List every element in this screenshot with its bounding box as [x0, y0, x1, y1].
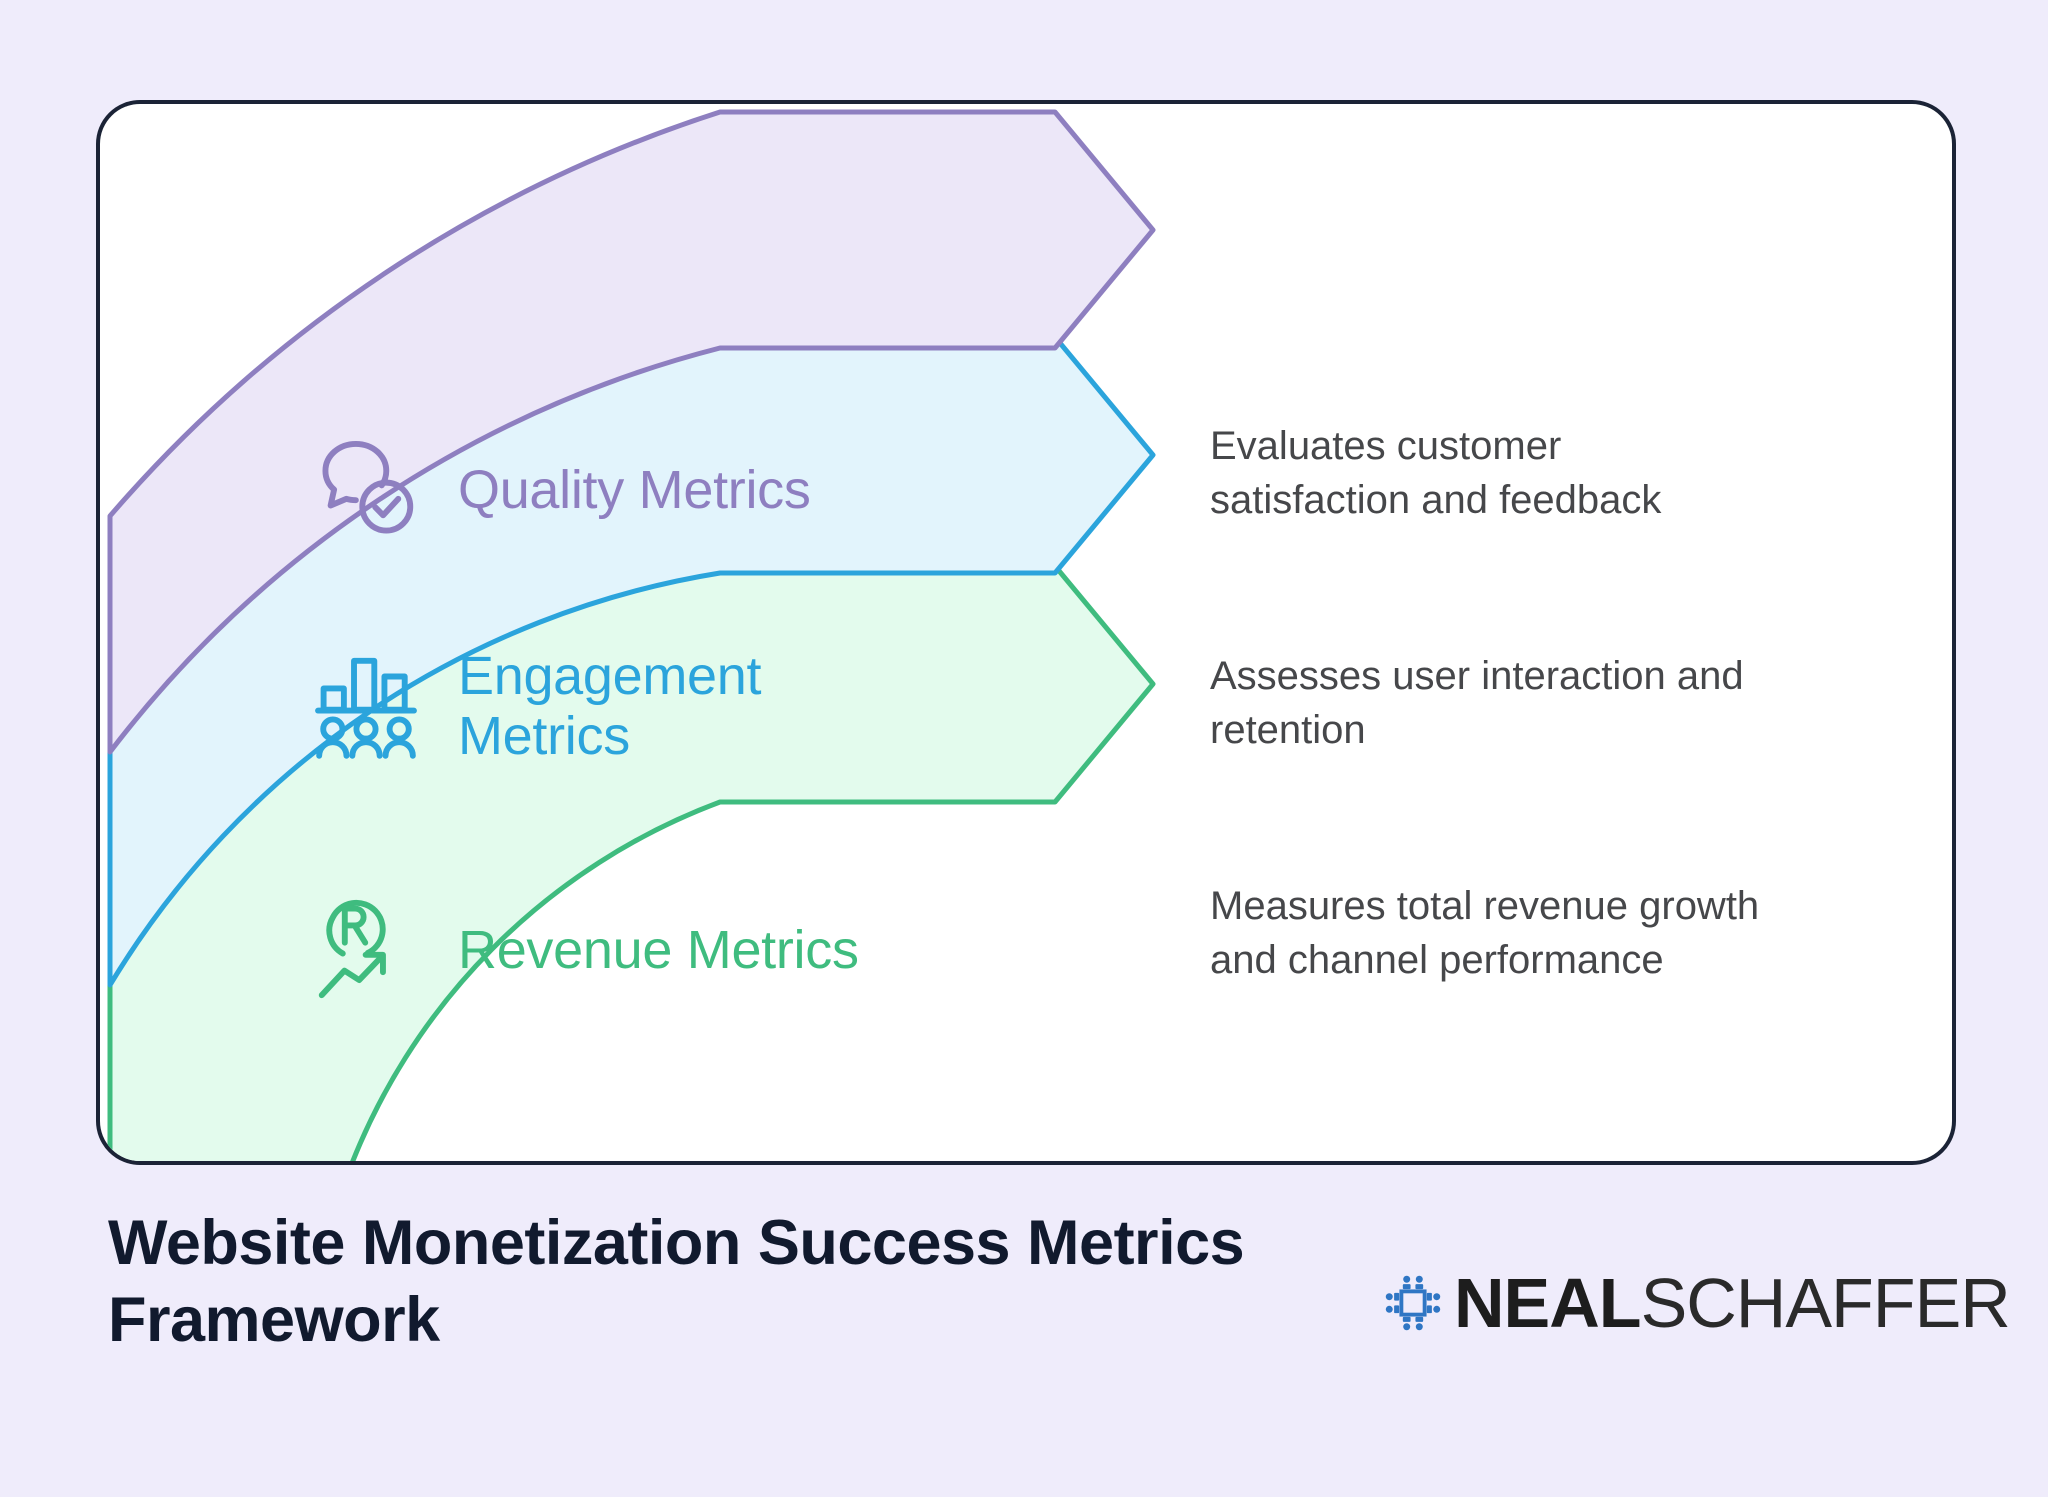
brand-logo[interactable]: NEALSCHAFFER: [1382, 1268, 2010, 1338]
page-title: Website Monetization Success Metrics Fra…: [108, 1205, 1288, 1359]
infographic-canvas: Quality Metrics: [0, 0, 2048, 1497]
logo-wordmark: NEALSCHAFFER: [1454, 1268, 2010, 1338]
band-shapes: [100, 104, 1956, 1165]
logo-name-bold: NEAL: [1454, 1264, 1641, 1342]
diagram-card: Quality Metrics: [96, 100, 1956, 1165]
logo-name-light: SCHAFFER: [1641, 1264, 2010, 1342]
footer: Website Monetization Success Metrics Fra…: [0, 1190, 2048, 1420]
people-around-table-icon: [1382, 1272, 1444, 1334]
